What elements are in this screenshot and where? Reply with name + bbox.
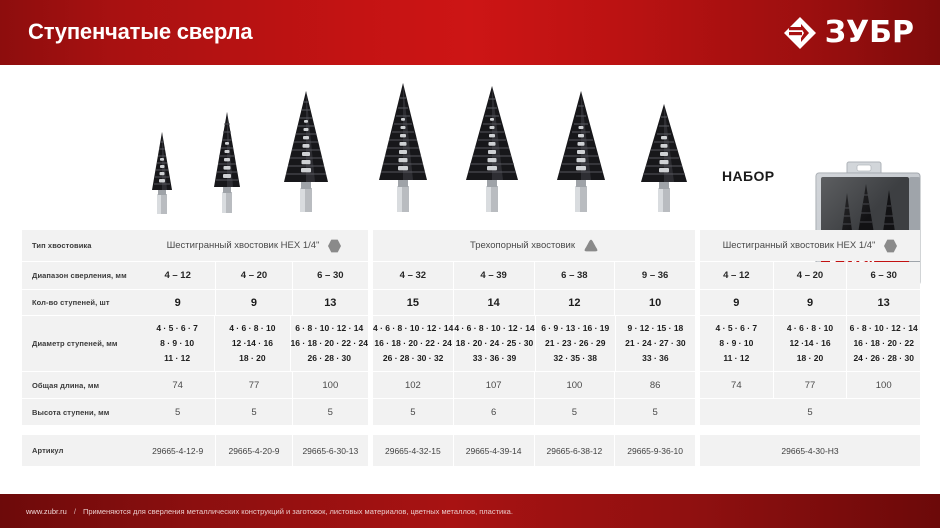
group-hex-left-height: 5 5 5: [140, 399, 368, 425]
table-cell: 29665-4-20-9: [216, 435, 292, 466]
step-drill-4-12: [145, 130, 179, 216]
set-label: НАБОР: [722, 168, 775, 184]
value: 11 · 12: [164, 351, 190, 366]
table-cell-merged: 29665-4-30-Н3: [700, 435, 920, 466]
value: 9: [251, 297, 257, 309]
value: 26 · 28 · 30: [308, 351, 351, 366]
table-cell: 13: [293, 290, 368, 315]
table-cell: 29665-4-12-9: [140, 435, 216, 466]
table-row-total-length: Общая длина, мм 74 77 100 102 107 100 86…: [22, 372, 920, 398]
value: 26 · 28 · 30 · 32: [383, 351, 443, 366]
group-hex-left-diam: 4 · 5 · 6 · 7 8 · 9 · 10 11 · 12 4 · 6 ·…: [140, 316, 368, 371]
group-hex-set-range: 4 – 12 4 – 20 6 – 30: [700, 262, 920, 289]
value: 9: [733, 297, 739, 309]
value: 29665-6-38-12: [546, 446, 602, 456]
value: 5: [251, 407, 256, 418]
page-title: Ступенчатые сверла: [28, 19, 252, 45]
value: 4 · 6 · 8 · 10: [787, 321, 833, 336]
value: 6 · 9 · 13 · 16 · 19: [541, 321, 609, 336]
value: 13: [878, 297, 890, 309]
table-cell: 29665-6-30-13: [293, 435, 368, 466]
table-cell: 6 · 8 · 10 · 12 · 14 16 · 18 · 20 · 22 ·…: [291, 316, 369, 371]
table-cell: 6 – 38: [535, 262, 616, 289]
table-cell: 9: [700, 290, 774, 315]
shank-type-label-g1: Шестигранный хвостовик HEX 1/4": [167, 240, 320, 251]
table-cell: 100: [535, 372, 616, 398]
value: 74: [731, 380, 742, 391]
page-header: Ступенчатые сверла ЗУБР: [0, 0, 940, 68]
table-cell: 74: [140, 372, 216, 398]
value: 9 · 12 · 15 · 18: [628, 321, 684, 336]
table-cell: 5: [293, 399, 368, 425]
hexagon-icon: [328, 239, 341, 253]
table-cell: 74: [700, 372, 774, 398]
table-cell: 5: [535, 399, 616, 425]
value: 4 – 20: [241, 270, 267, 281]
value: 5: [652, 407, 657, 418]
table-cell: 29665-6-38-12: [535, 435, 616, 466]
table-cell: 9: [140, 290, 216, 315]
value: 100: [566, 380, 582, 391]
group-three-support-height: 5 6 5 5: [373, 399, 695, 425]
step-drill-4-32: [370, 80, 436, 216]
value: 16 · 18 · 20 · 22 · 24: [291, 336, 369, 351]
value: 4 · 6 · 8 · 10 · 12 · 14: [373, 321, 453, 336]
row-label-step-diameter: Диаметр ступеней, мм: [22, 316, 140, 371]
value: 24 · 26 · 28 · 30: [853, 351, 913, 366]
value: 29665-4-12-9: [152, 446, 203, 456]
page-footer: www.zubr.ru / Применяются для сверления …: [0, 494, 940, 528]
value: 4 – 20: [797, 270, 823, 281]
value: 32 · 35 · 38: [554, 351, 597, 366]
value: 18 · 20 · 24 · 25 · 30: [456, 336, 534, 351]
table-cell: 5: [615, 399, 695, 425]
table-cell: 15: [373, 290, 454, 315]
value: 12 ·14 · 16: [789, 336, 830, 351]
value: 12 ·14 · 16: [232, 336, 273, 351]
product-image-strip: НАБОР: [0, 72, 940, 224]
group-hex-set-height: 5: [700, 399, 920, 425]
step-drill-4-39: [458, 82, 526, 216]
value: 4 – 12: [164, 270, 190, 281]
value: 14: [488, 297, 500, 309]
group-three-support-length: 102 107 100 86: [373, 372, 695, 398]
table-cell: 4 · 5 · 6 · 7 8 · 9 · 10 11 · 12: [140, 316, 215, 371]
table-row-drill-range: Диапазон сверления, мм 4 – 12 4 – 20 6 –…: [22, 262, 920, 289]
shank-type-cell-g2: Трехопорный хвостовик: [373, 230, 695, 261]
table-cell: 12: [535, 290, 616, 315]
value: 16 · 18 · 20 · 22 · 24: [374, 336, 452, 351]
table-cell: 77: [216, 372, 292, 398]
table-cell: 29665-4-32-15: [373, 435, 454, 466]
table-cell: 4 – 39: [454, 262, 535, 289]
table-cell: 4 – 20: [774, 262, 848, 289]
table-cell: 4 · 6 · 8 · 10 · 12 · 14 18 · 20 · 24 · …: [454, 316, 535, 371]
group-hex-left-length: 74 77 100: [140, 372, 368, 398]
group-hex-left-article: 29665-4-12-9 29665-4-20-9 29665-6-30-13: [140, 435, 368, 466]
value: 6: [491, 407, 496, 418]
group-three-support-head: Трехопорный хвостовик: [373, 230, 695, 261]
table-cell: 4 – 32: [373, 262, 454, 289]
table-cell: 86: [615, 372, 695, 398]
group-hex-left-range: 4 – 12 4 – 20 6 – 30: [140, 262, 368, 289]
specifications-table: Тип хвостовика Шестигранный хвостовик HE…: [22, 230, 920, 467]
value: 5: [175, 407, 180, 418]
value: 29665-9-36-10: [627, 446, 683, 456]
value: 74: [172, 380, 183, 391]
table-cell: 4 · 6 · 8 · 10 · 12 · 14 16 · 18 · 20 · …: [373, 316, 454, 371]
table-cell: 4 – 12: [140, 262, 216, 289]
table-cell: 6 · 9 · 13 · 16 · 19 21 · 23 · 26 · 29 3…: [536, 316, 616, 371]
value: 9: [175, 297, 181, 309]
value: 29665-4-32-15: [385, 446, 441, 456]
group-three-support-diam: 4 · 6 · 8 · 10 · 12 · 14 16 · 18 · 20 · …: [373, 316, 695, 371]
step-drill-9-36: [632, 96, 696, 216]
brand-name: ЗУБР: [825, 18, 914, 48]
group-three-support-range: 4 – 32 4 – 39 6 – 38 9 – 36: [373, 262, 695, 289]
value: 8 · 9 · 10: [160, 336, 194, 351]
value: 77: [805, 380, 816, 391]
group-hex-left-steps: 9 9 13: [140, 290, 368, 315]
value: 29665-4-39-14: [466, 446, 522, 456]
shank-type-label-g3: Шестигранный хвостовик HEX 1/4": [723, 240, 876, 251]
table-section-gap: [22, 426, 920, 435]
value: 77: [249, 380, 260, 391]
row-label-step-height: Высота ступени, мм: [22, 399, 140, 425]
row-label-drill-range: Диапазон сверления, мм: [22, 262, 140, 289]
group-hex-set-steps: 9 9 13: [700, 290, 920, 315]
group-three-support-article: 29665-4-32-15 29665-4-39-14 29665-6-38-1…: [373, 435, 695, 466]
value: 86: [650, 380, 661, 391]
table-cell: 4 · 6 · 8 · 10 12 ·14 · 16 18 · 20: [774, 316, 848, 371]
value: 100: [876, 380, 892, 391]
shank-type-cell-g3: Шестигранный хвостовик HEX 1/4": [700, 230, 920, 261]
row-label-article: Артикул: [22, 435, 140, 466]
value: 4 · 6 · 8 · 10: [229, 321, 275, 336]
table-cell: 5: [373, 399, 454, 425]
value: 9: [807, 297, 813, 309]
table-cell: 100: [847, 372, 920, 398]
value: 21 · 23 · 26 · 29: [545, 336, 605, 351]
shank-type-cell-g1: Шестигранный хвостовик HEX 1/4": [140, 230, 368, 261]
value: 18 · 20: [797, 351, 823, 366]
value: 4 – 39: [480, 270, 506, 281]
value: 107: [486, 380, 502, 391]
step-drill-6-38: [548, 86, 614, 216]
table-cell: 5: [140, 399, 216, 425]
value: 6 · 8 · 10 · 12 · 14: [850, 321, 918, 336]
footer-description: Применяются для сверления металлических …: [83, 507, 513, 516]
footer-separator: /: [74, 507, 76, 516]
value: 12: [568, 297, 580, 309]
value: 5: [328, 407, 333, 418]
value: 4 – 12: [723, 270, 749, 281]
value: 5: [572, 407, 577, 418]
brand-logo: ЗУБР: [783, 16, 914, 50]
table-cell-merged: 5: [700, 399, 920, 425]
table-cell: 6 · 8 · 10 · 12 · 14 16 · 18 · 20 · 22 2…: [847, 316, 920, 371]
table-row-step-count: Кол-во ступеней, шт 9 9 13 15 14 12 10 9…: [22, 290, 920, 315]
value: 4 · 5 · 6 · 7: [156, 321, 198, 336]
table-row-step-diameter: Диаметр ступеней, мм 4 · 5 · 6 · 7 8 · 9…: [22, 316, 920, 371]
group-hex-set-diam: 4 · 5 · 6 · 7 8 · 9 · 10 11 · 12 4 · 6 ·…: [700, 316, 920, 371]
value: 29665-4-30-Н3: [781, 446, 838, 456]
group-hex-set-head: Шестигранный хвостовик HEX 1/4": [700, 230, 920, 261]
table-cell: 77: [774, 372, 848, 398]
table-cell: 4 · 6 · 8 · 10 12 ·14 · 16 18 · 20: [215, 316, 290, 371]
table-cell: 6 – 30: [293, 262, 368, 289]
value: 11 · 12: [723, 351, 749, 366]
value: 9 – 36: [642, 270, 668, 281]
table-row-shank-type: Тип хвостовика Шестигранный хвостовик HE…: [22, 230, 920, 261]
value: 10: [649, 297, 661, 309]
shank-type-label-g2: Трехопорный хвостовик: [470, 240, 575, 251]
value: 29665-6-30-13: [302, 446, 358, 456]
value: 6 – 30: [870, 270, 896, 281]
value: 5: [807, 407, 812, 418]
hexagon-icon: [884, 239, 897, 253]
footer-content: www.zubr.ru / Применяются для сверления …: [0, 507, 513, 516]
value: 102: [405, 380, 421, 391]
table-cell: 4 – 12: [700, 262, 774, 289]
value: 5: [410, 407, 415, 418]
value: 8 · 9 · 10: [719, 336, 753, 351]
value: 13: [324, 297, 336, 309]
value: 21 · 24 · 27 · 30: [625, 336, 685, 351]
row-label-step-count: Кол-во ступеней, шт: [22, 290, 140, 315]
group-hex-set-article: 29665-4-30-Н3: [700, 435, 920, 466]
value: 15: [407, 297, 419, 309]
table-cell: 14: [454, 290, 535, 315]
rounded-triangle-icon: [584, 239, 598, 252]
table-cell: 4 – 20: [216, 262, 292, 289]
table-cell: 4 · 5 · 6 · 7 8 · 9 · 10 11 · 12: [700, 316, 774, 371]
table-row-article: Артикул 29665-4-12-9 29665-4-20-9 29665-…: [22, 435, 920, 466]
value: 29665-4-20-9: [228, 446, 279, 456]
value: 33 · 36: [642, 351, 668, 366]
value: 6 – 38: [561, 270, 587, 281]
value: 6 – 30: [317, 270, 343, 281]
value: 33 · 36 · 39: [473, 351, 516, 366]
table-cell: 9: [216, 290, 292, 315]
table-cell: 6 – 30: [847, 262, 920, 289]
value: 4 – 32: [400, 270, 426, 281]
value: 16 · 18 · 20 · 22: [853, 336, 913, 351]
zubr-diamond-arrow-icon: [783, 16, 817, 50]
value: 6 · 8 · 10 · 12 · 14: [295, 321, 363, 336]
value: 4 · 6 · 8 · 10 · 12 · 14: [454, 321, 534, 336]
table-cell: 6: [454, 399, 535, 425]
table-cell: 29665-9-36-10: [615, 435, 695, 466]
group-three-support-steps: 15 14 12 10: [373, 290, 695, 315]
row-label-total-length: Общая длина, мм: [22, 372, 140, 398]
value: 4 · 5 · 6 · 7: [716, 321, 758, 336]
group-hex-left-head: Шестигранный хвостовик HEX 1/4": [140, 230, 368, 261]
value: 100: [322, 380, 338, 391]
group-hex-set-length: 74 77 100: [700, 372, 920, 398]
table-cell: 9: [774, 290, 848, 315]
table-row-step-height: Высота ступени, мм 5 5 5 5 6 5 5 5: [22, 399, 920, 425]
table-cell: 100: [293, 372, 368, 398]
step-drill-6-30: [275, 88, 337, 216]
table-cell: 102: [373, 372, 454, 398]
table-cell: 9 – 36: [615, 262, 695, 289]
value: 18 · 20: [239, 351, 265, 366]
table-cell: 13: [847, 290, 920, 315]
table-cell: 5: [216, 399, 292, 425]
step-drill-4-20: [205, 110, 249, 216]
footer-website-link[interactable]: www.zubr.ru: [26, 507, 67, 516]
row-label-shank-type: Тип хвостовика: [22, 230, 140, 261]
table-cell: 29665-4-39-14: [454, 435, 535, 466]
table-cell: 10: [615, 290, 695, 315]
table-cell: 107: [454, 372, 535, 398]
table-cell: 9 · 12 · 15 · 18 21 · 24 · 27 · 30 33 · …: [616, 316, 695, 371]
